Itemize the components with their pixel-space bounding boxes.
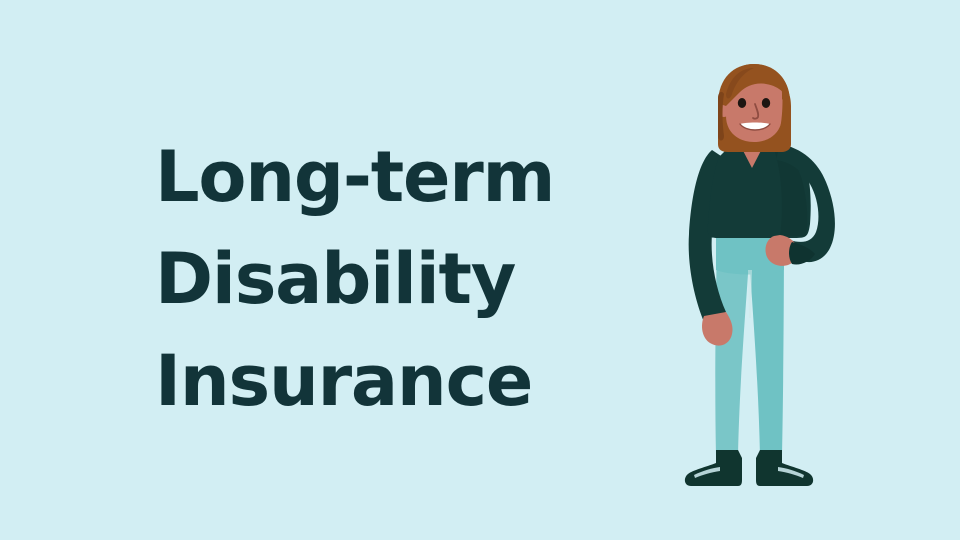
shoe-left: [685, 450, 742, 486]
title-line-2: Disability: [155, 228, 635, 330]
shoes: [685, 450, 813, 486]
page-title: Long-term Disability Insurance: [155, 126, 635, 432]
title-line-3: Insurance: [155, 330, 635, 432]
eye-left: [738, 98, 746, 108]
shoe-right: [756, 450, 813, 486]
slide-canvas: Long-term Disability Insurance: [0, 0, 960, 540]
title-line-1: Long-term: [155, 126, 635, 228]
eye-right: [762, 98, 770, 108]
hand-left: [702, 312, 733, 346]
pants-seam: [748, 270, 752, 318]
standing-woman-illustration: [660, 58, 880, 488]
